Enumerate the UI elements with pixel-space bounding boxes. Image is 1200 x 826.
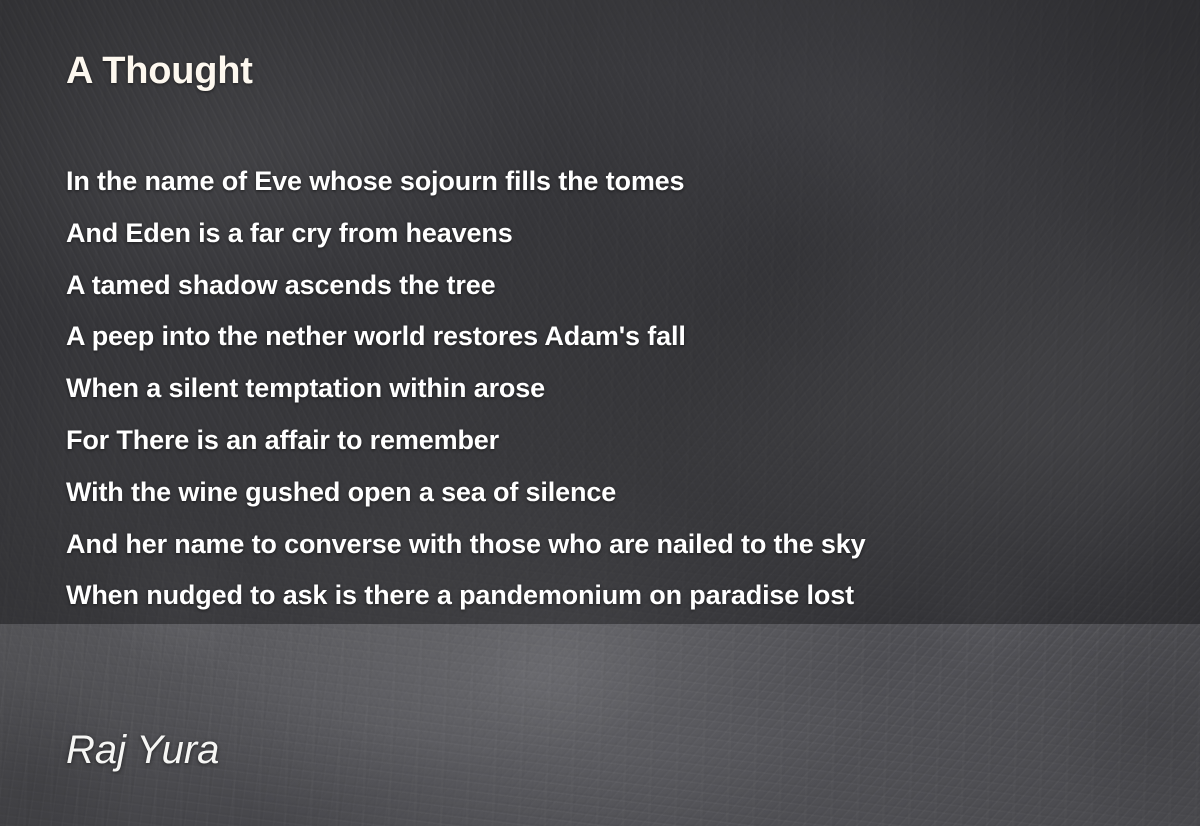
poem-line: When a silent temptation within arose xyxy=(66,363,1146,415)
poem-content: A Thought In the name of Eve whose sojou… xyxy=(0,0,1200,826)
poem-line: In the name of Eve whose sojourn fills t… xyxy=(66,156,1146,208)
poem-line: And her name to converse with those who … xyxy=(66,519,1146,571)
page-title: A Thought xyxy=(66,50,253,93)
poem-image-card: A Thought In the name of Eve whose sojou… xyxy=(0,0,1200,826)
poem-line: With the wine gushed open a sea of silen… xyxy=(66,467,1146,519)
poem-line: A tamed shadow ascends the tree xyxy=(66,260,1146,312)
poem-body: In the name of Eve whose sojourn fills t… xyxy=(66,156,1146,622)
poem-line: For There is an affair to remember xyxy=(66,415,1146,467)
poem-line: A peep into the nether world restores Ad… xyxy=(66,311,1146,363)
poem-line: And Eden is a far cry from heavens xyxy=(66,208,1146,260)
author-signature: Raj Yura xyxy=(66,728,219,773)
poem-line: When nudged to ask is there a pandemoniu… xyxy=(66,570,1146,622)
